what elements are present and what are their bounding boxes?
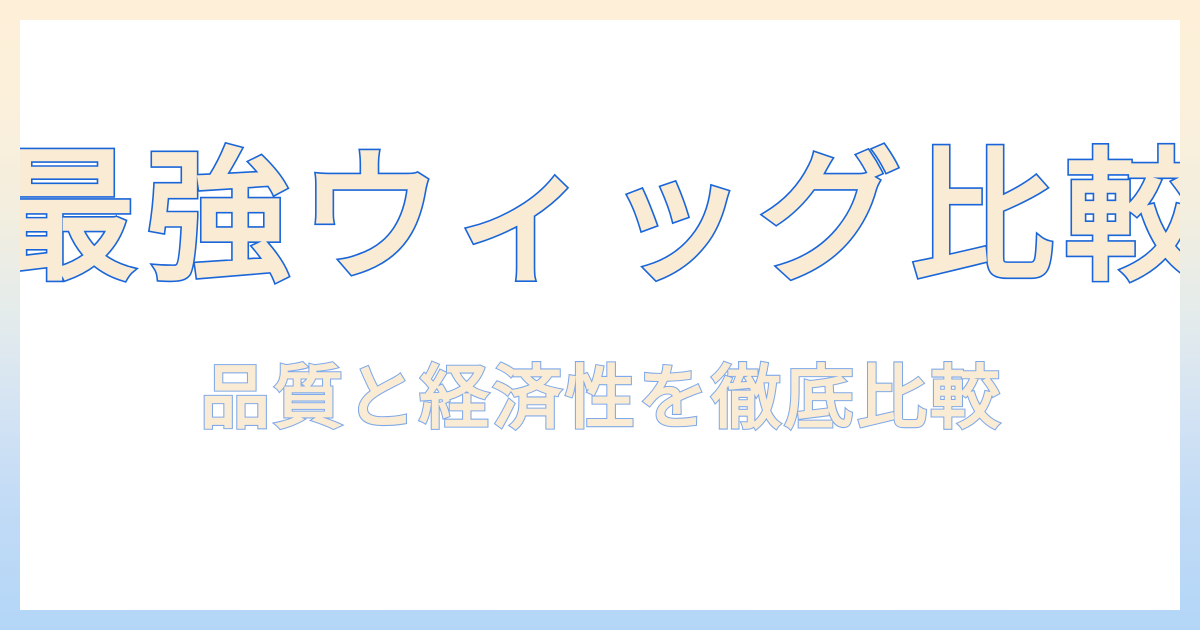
page-title: 最強ウィッグ比較	[20, 142, 1180, 294]
page-subtitle: 品質と経済性を徹底比較	[197, 360, 1003, 437]
ogp-banner: 最強ウィッグ比較 品質と経済性を徹底比較	[0, 0, 1200, 630]
subtitle-container: 品質と経済性を徹底比較	[20, 360, 1180, 437]
white-content-panel: 最強ウィッグ比較 品質と経済性を徹底比較	[20, 20, 1180, 610]
title-container: 最強ウィッグ比較	[20, 142, 1180, 294]
